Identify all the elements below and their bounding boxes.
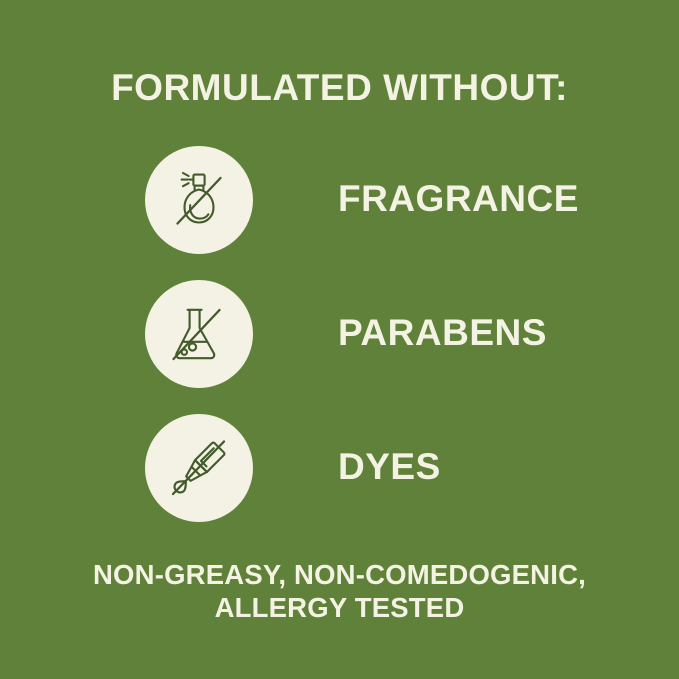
footer-claims: NON-GREASY, NON-COMEDOGENIC, ALLERGY TES… <box>0 558 679 624</box>
claims-list: FRAGRANCE <box>0 146 679 548</box>
list-item-label: PARABENS <box>338 311 547 355</box>
list-item-dyes: DYES <box>0 414 679 548</box>
list-item-fragrance: FRAGRANCE <box>0 146 679 280</box>
badge-fragrance <box>145 146 253 254</box>
footer-line-1: NON-GREASY, NON-COMEDOGENIC, <box>0 558 679 591</box>
no-dropper-icon <box>160 429 238 507</box>
list-item-parabens: PARABENS <box>0 280 679 414</box>
list-item-label: FRAGRANCE <box>338 177 579 221</box>
list-item-label: DYES <box>338 445 441 489</box>
badge-dyes <box>145 414 253 522</box>
no-chemical-flask-icon <box>160 295 238 373</box>
page-title: FORMULATED WITHOUT: <box>0 68 679 108</box>
footer-line-2: ALLERGY TESTED <box>0 591 679 624</box>
badge-parabens <box>145 280 253 388</box>
formulated-without-poster: FORMULATED WITHOUT: <box>0 0 679 679</box>
no-fragrance-bottle-icon <box>160 161 238 239</box>
